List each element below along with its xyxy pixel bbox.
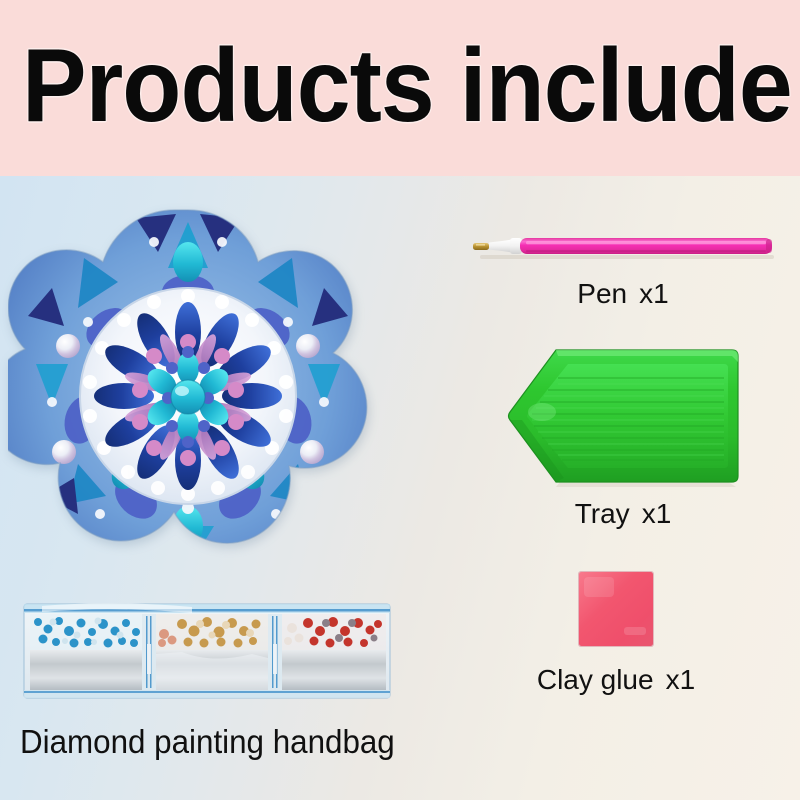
page-title: Products include [22,30,729,142]
tray-quantity: x1 [642,498,672,529]
tray-label-text: Tray [575,498,630,529]
mandala-flower-coaster [8,196,368,598]
clay-glue-label-text: Clay glue [537,664,654,695]
tray-product-image [504,340,744,492]
clay-glue-label: Clay gluex1 [440,663,792,697]
coaster-product-image [8,196,368,598]
pen-label: Penx1 [470,277,776,311]
pen-product-image [468,228,778,268]
clay-glue-quantity: x1 [666,664,696,695]
handbag-label: Diamond painting handbag [20,722,400,762]
product-include-infographic: Products include [0,0,800,800]
header-band: Products include [0,0,800,176]
pen-quantity: x1 [639,278,669,309]
pen-label-text: Pen [577,278,627,309]
diamond-painting-handbag-image [22,598,392,706]
tray-label: Trayx1 [470,497,776,531]
clay-glue-product-image [576,569,656,649]
